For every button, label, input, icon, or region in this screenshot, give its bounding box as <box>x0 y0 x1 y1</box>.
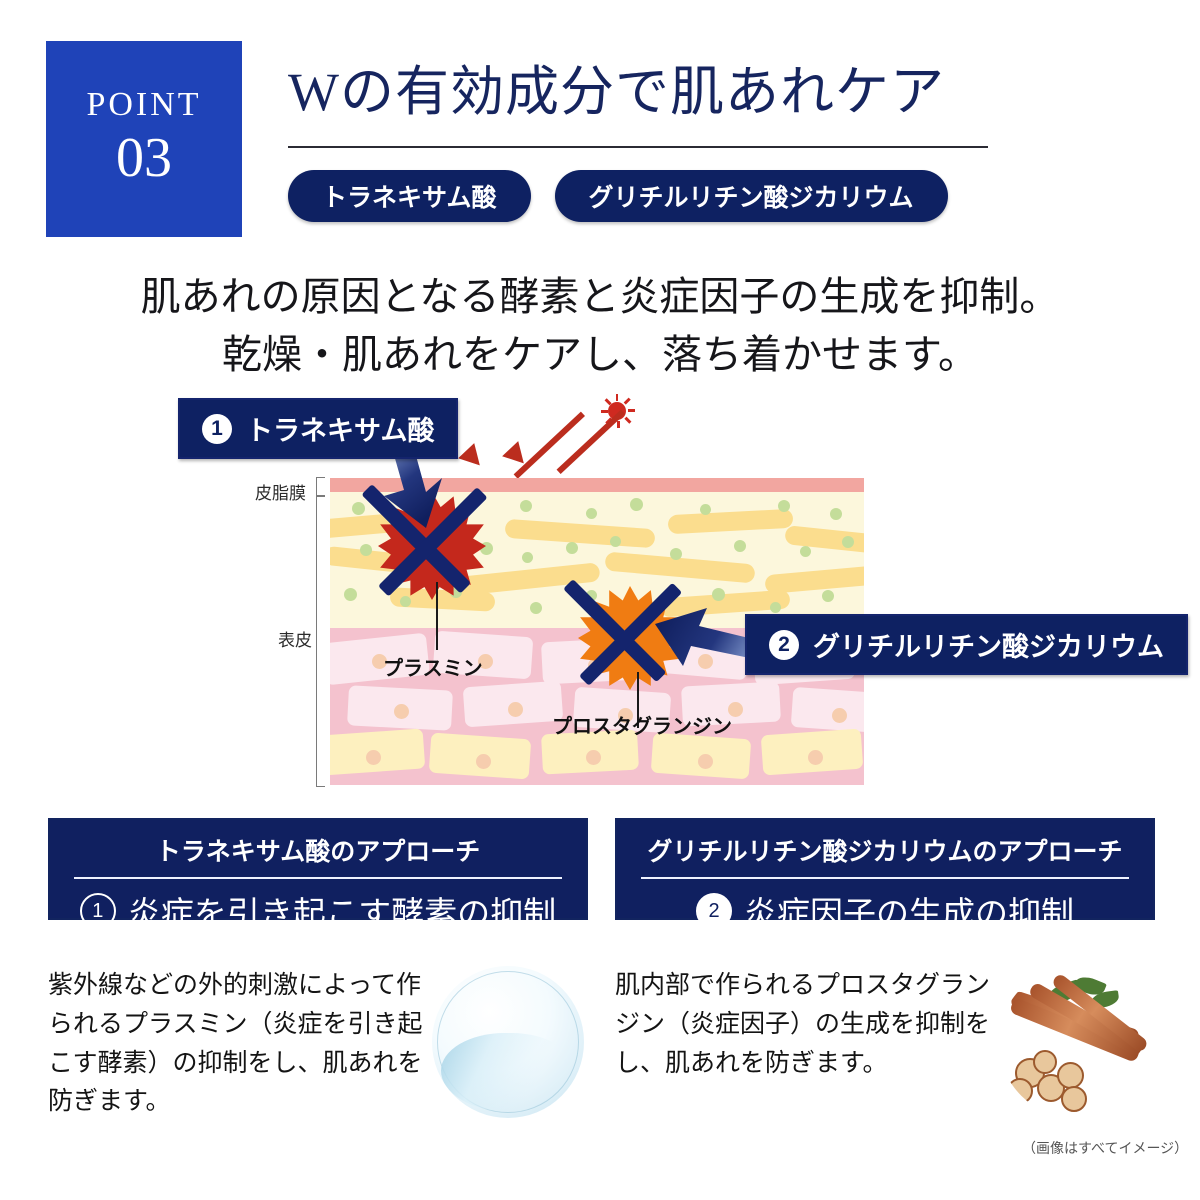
ingredient-pill-row: トラネキサム酸 グリチルリチン酸ジカリウム <box>288 170 948 222</box>
approach-card-header: トラネキサム酸のアプローチ 1 炎症を引き起こす酵素の抑制 <box>48 818 588 920</box>
layer-bracket-epidermis <box>316 496 325 787</box>
approach-body-glycyrrhizinate: 肌内部で作られるプロスタグランジン（炎症因子）の生成を抑制をし、肌あれを防ぎます… <box>615 966 1155 1118</box>
callout-tranexamic: 1 トラネキサム酸 <box>178 398 458 459</box>
callout-label-1: トラネキサム酸 <box>246 409 434 448</box>
approach-body-text: 紫外線などの外的刺激によって作られるプラスミン（炎症を引き起こす酵素）の抑制をし… <box>48 966 428 1121</box>
approach-card-divider <box>641 877 1129 879</box>
approach-card-title-text: 炎症を引き起こす酵素の抑制 <box>128 887 556 935</box>
approach-card-tranexamic: トラネキサム酸のアプローチ 1 炎症を引き起こす酵素の抑制 <box>48 818 588 920</box>
lead-line-1: 肌あれの原因となる酵素と炎症因子の生成を抑制。 <box>0 268 1200 326</box>
approach-card-title: 1 炎症を引き起こす酵素の抑制 <box>60 887 576 935</box>
callout-number-2: 2 <box>769 630 799 660</box>
ingredient-pill-glycyrrhizinate: グリチルリチン酸ジカリウム <box>555 170 948 222</box>
approach-card-subtitle: グリチルリチン酸ジカリウムのアプローチ <box>627 832 1143 868</box>
licorice-root-image <box>999 966 1151 1118</box>
approach-card-title-text: 炎症因子の生成の抑制 <box>744 887 1074 935</box>
skin-cross-section-diagram: 皮脂膜 表皮 <box>0 386 1200 796</box>
approach-card-glycyrrhizinate: グリチルリチン酸ジカリウムのアプローチ 2 炎症因子の生成の抑制 <box>615 818 1155 920</box>
plasmin-label: プラスミン <box>383 652 483 681</box>
page-title: Wの有効成分で肌あれケア <box>288 47 945 126</box>
point-badge-word: POINT <box>86 88 201 122</box>
prostaglandin-label: プロスタグランジン <box>552 710 732 739</box>
approach-body-text: 肌内部で作られるプロスタグランジン（炎症因子）の生成を抑制をし、肌あれを防ぎます… <box>615 966 995 1118</box>
lead-copy: 肌あれの原因となる酵素と炎症因子の生成を抑制。 乾燥・肌あれをケアし、落ち着かせ… <box>0 268 1200 384</box>
approach-card-header: グリチルリチン酸ジカリウムのアプローチ 2 炎症因子の生成の抑制 <box>615 818 1155 920</box>
image-disclaimer: （画像はすべてイメージ） <box>1022 1138 1188 1158</box>
water-gel-drop-image <box>432 966 584 1118</box>
point-badge-number: 03 <box>116 126 172 190</box>
approach-card-divider <box>74 877 562 879</box>
lead-line-2: 乾燥・肌あれをケアし、落ち着かせます。 <box>0 326 1200 384</box>
point-badge: POINT 03 <box>46 41 242 237</box>
approach-card-title: 2 炎症因子の生成の抑制 <box>627 887 1143 935</box>
plasmin-leader-line <box>436 582 438 650</box>
title-divider <box>288 146 988 148</box>
approach-body-tranexamic: 紫外線などの外的刺激によって作られるプラスミン（炎症を引き起こす酵素）の抑制をし… <box>48 966 588 1121</box>
layer-bracket-sebum <box>316 477 325 496</box>
infographic-page: POINT 03 Wの有効成分で肌あれケア トラネキサム酸 グリチルリチン酸ジカ… <box>0 0 1200 1200</box>
approach-card-number: 1 <box>80 893 116 929</box>
ingredient-pill-tranexamic: トラネキサム酸 <box>288 170 531 222</box>
approach-card-subtitle: トラネキサム酸のアプローチ <box>60 832 576 868</box>
callout-label-2: グリチルリチン酸ジカリウム <box>813 625 1164 664</box>
callout-number-1: 1 <box>202 414 232 444</box>
approach-card-number: 2 <box>696 893 732 929</box>
layer-label-sebum: 皮脂膜 <box>255 479 306 504</box>
layer-label-epidermis: 表皮 <box>278 626 312 651</box>
callout-glycyrrhizinate: 2 グリチルリチン酸ジカリウム <box>745 614 1188 675</box>
